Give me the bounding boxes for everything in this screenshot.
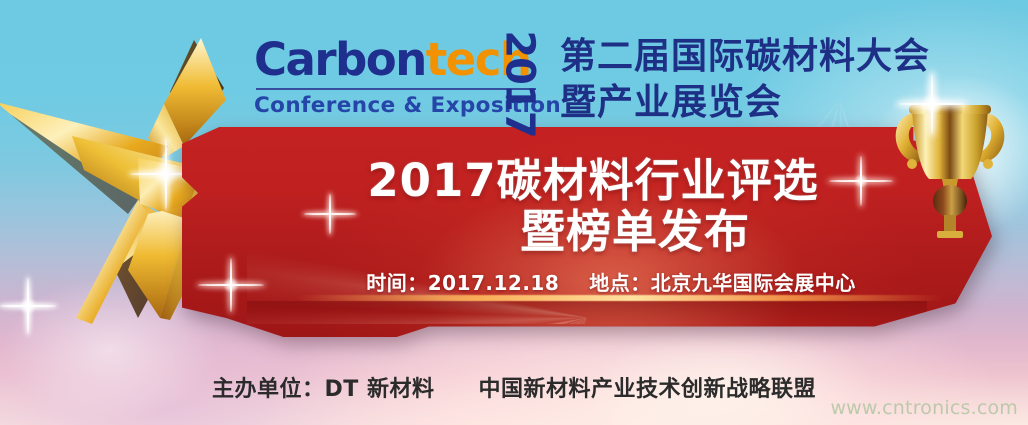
event-banner: 2017碳材料行业评选 暨榜单发布 时间：2017.12.18地点：北京九华国际… bbox=[0, 0, 1028, 425]
place-label: 地点： bbox=[589, 271, 651, 295]
logo-divider bbox=[256, 88, 536, 90]
organiser-label: 主办单位： bbox=[212, 377, 325, 402]
time-value: 2017.12.18 bbox=[428, 271, 560, 295]
conference-title: 第二届国际碳材料大会 暨产业展览会 bbox=[560, 34, 960, 126]
event-meta-line: 时间：2017.12.18地点：北京九华国际会展中心 bbox=[206, 267, 1016, 296]
conference-title-line-1: 第二届国际碳材料大会 bbox=[560, 34, 960, 80]
logo-year-text: 2017 bbox=[497, 30, 543, 137]
time-label: 时间： bbox=[366, 271, 428, 295]
logo-year-vertical: 2017 bbox=[497, 34, 543, 134]
logo-word-carbon: Carbon bbox=[254, 33, 426, 86]
place-value: 北京九华国际会展中心 bbox=[651, 271, 856, 295]
organiser-name-2: 中国新材料产业技术创新战略联盟 bbox=[478, 377, 816, 402]
conference-title-line-2: 暨产业展览会 bbox=[560, 80, 960, 126]
site-watermark: www.cntronics.com bbox=[830, 397, 1018, 419]
organiser-name-1: DT 新材料 bbox=[325, 377, 435, 402]
red-banner-panel: 2017碳材料行业评选 暨榜单发布 时间：2017.12.18地点：北京九华国际… bbox=[182, 127, 992, 337]
